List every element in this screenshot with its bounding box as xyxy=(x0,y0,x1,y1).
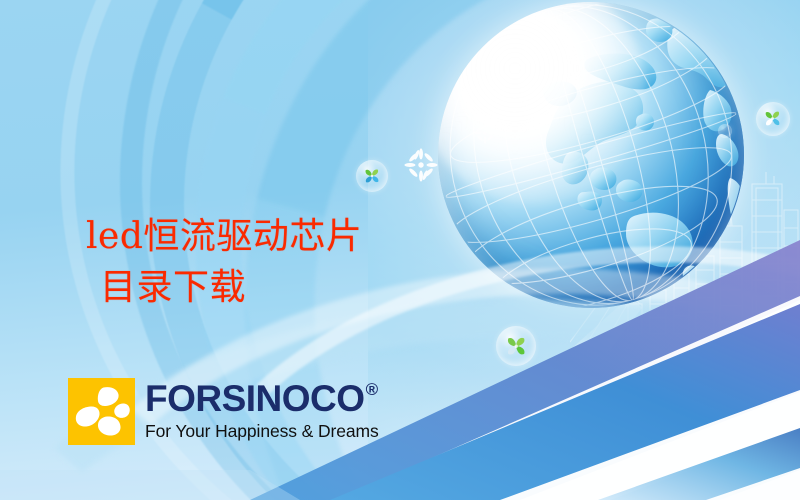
promo-banner: led恒流驱动芯片 目录下载 FORSINOCO® xyxy=(0,0,800,500)
bubble-pinwheel-3 xyxy=(756,102,790,136)
logo-company-name: FORSINOCO® xyxy=(145,380,379,417)
logo-tagline: For Your Happiness & Dreams xyxy=(145,423,379,441)
headline-line-2: 目录下载 xyxy=(86,262,506,313)
headline-line-1: led恒流驱动芯片 xyxy=(86,216,362,257)
company-logo: FORSINOCO® For Your Happiness & Dreams xyxy=(68,378,379,445)
pinwheel-icon xyxy=(505,335,527,357)
bubble-small-4 xyxy=(718,124,732,138)
logo-text-block: FORSINOCO® For Your Happiness & Dreams xyxy=(145,378,379,441)
logo-company-word: FORSINOCO xyxy=(145,380,365,417)
registered-trademark-symbol: ® xyxy=(366,381,378,398)
headline: led恒流驱动芯片 目录下载 xyxy=(86,160,506,364)
forsinoco-pinwheel-mark-icon xyxy=(68,378,135,445)
pinwheel-icon xyxy=(763,109,782,128)
